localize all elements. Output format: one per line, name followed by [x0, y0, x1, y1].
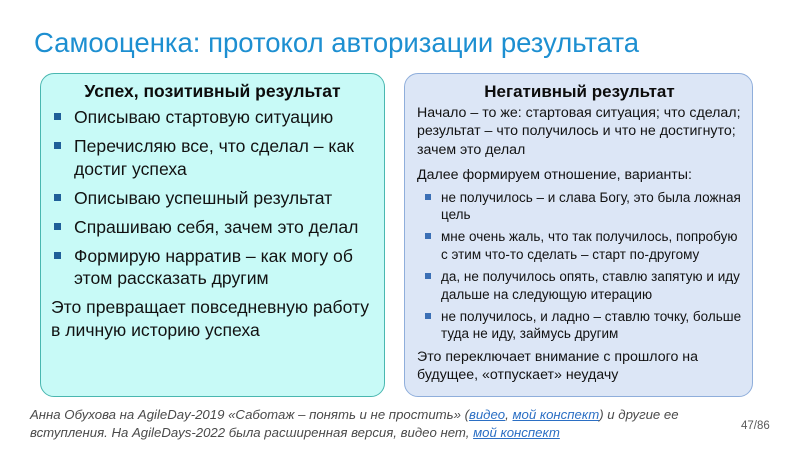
list-item-label: да, не получилось опять, ставлю запятую … — [441, 269, 740, 301]
panel-negative-closing: Это переключает внимание с прошлого на б… — [417, 348, 742, 385]
list-item-label: мне очень жаль, что так получилось, попр… — [441, 229, 737, 261]
list-item: Спрашиваю себя, зачем это делал — [51, 216, 374, 239]
page-number: 47/86 — [741, 420, 770, 432]
slide: Самооценка: протокол авторизации результ… — [0, 0, 800, 450]
list-item: да, не получилось опять, ставлю запятую … — [417, 268, 742, 303]
panel-success-heading: Успех, позитивный результат — [51, 80, 374, 103]
list-item-label: Описываю успешный результат — [74, 188, 332, 208]
footer-text-1: Анна Обухова на AgileDay-2019 «Саботаж –… — [30, 407, 469, 422]
link-notes-2022[interactable]: мой конспект — [473, 425, 560, 440]
list-item: Описываю стартовую ситуацию — [51, 106, 374, 129]
panel-success-list: Описываю стартовую ситуацию Перечисляю в… — [51, 106, 374, 290]
list-item: Описываю успешный результат — [51, 187, 374, 210]
panel-negative-intro: Начало – то же: стартовая ситуация; что … — [417, 104, 742, 159]
square-bullet-icon — [54, 223, 61, 230]
footer-text-2: ) и — [599, 407, 614, 422]
list-item: не получилось, и ладно – ставлю точку, б… — [417, 308, 742, 343]
list-item: Перечисляю все, что сделал – как достиг … — [51, 135, 374, 180]
square-bullet-icon — [425, 273, 431, 279]
panel-negative-heading: Негативный результат — [417, 80, 742, 103]
list-item-label: Спрашиваю себя, зачем это делал — [74, 217, 358, 237]
list-item-label: Описываю стартовую ситуацию — [74, 107, 333, 127]
list-item-label: Перечисляю все, что сделал – как достиг … — [74, 136, 354, 179]
square-bullet-icon — [425, 313, 431, 319]
square-bullet-icon — [425, 194, 431, 200]
list-item: не получилось – и слава Богу, это была л… — [417, 189, 742, 224]
list-item-label: не получилось – и слава Богу, это была л… — [441, 190, 741, 222]
square-bullet-icon — [54, 252, 61, 259]
list-item: Формирую нарратив – как могу об этом рас… — [51, 245, 374, 290]
list-item: мне очень жаль, что так получилось, попр… — [417, 228, 742, 263]
page-title: Самооценка: протокол авторизации результ… — [34, 26, 774, 60]
footer-credit: Анна Обухова на AgileDay-2019 «Саботаж –… — [30, 406, 710, 441]
square-bullet-icon — [54, 194, 61, 201]
panel-negative-subhead: Далее формируем отношение, варианты: — [417, 166, 742, 184]
panel-success: Успех, позитивный результат Описываю ста… — [40, 73, 385, 397]
list-item-label: не получилось, и ладно – ставлю точку, б… — [441, 309, 741, 341]
square-bullet-icon — [425, 233, 431, 239]
panel-success-closing: Это превращает повседневную работу в лич… — [51, 296, 374, 341]
square-bullet-icon — [54, 142, 61, 149]
square-bullet-icon — [54, 113, 61, 120]
list-item-label: Формирую нарратив – как могу об этом рас… — [74, 246, 353, 289]
link-video[interactable]: видео — [469, 407, 505, 422]
panel-negative-list: не получилось – и слава Богу, это была л… — [417, 189, 742, 343]
panel-negative: Негативный результат Начало – то же: ста… — [404, 73, 753, 397]
link-notes-2019[interactable]: мой конспект — [512, 407, 599, 422]
